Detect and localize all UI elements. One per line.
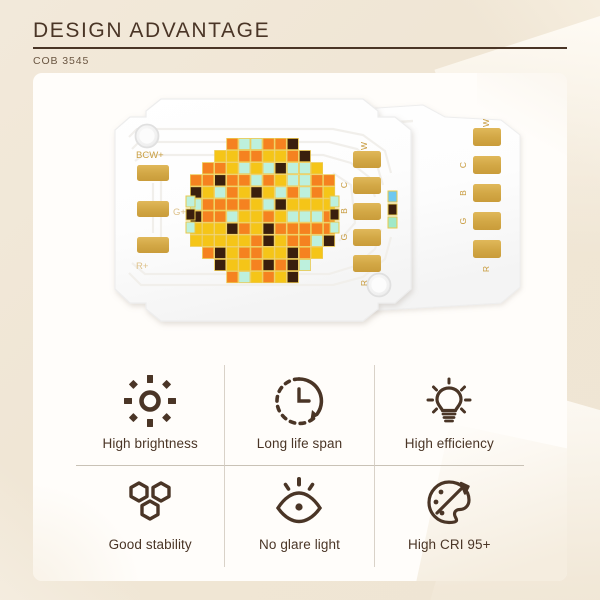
led-emitter — [275, 163, 286, 174]
led-emitter — [263, 247, 274, 258]
led-emitter — [299, 211, 310, 222]
feature-long-life-span[interactable]: Long life span — [225, 365, 374, 466]
led-emitter — [203, 235, 214, 246]
led-emitter — [311, 187, 322, 198]
led-emitter — [239, 163, 250, 174]
led-emitter — [251, 199, 262, 210]
led-emitter — [287, 187, 298, 198]
led-emitter — [311, 223, 322, 234]
feature-no-glare-light[interactable]: No glare light — [225, 466, 374, 567]
led-emitter — [203, 187, 214, 198]
led-emitter — [203, 163, 214, 174]
led-emitter — [287, 151, 298, 162]
led-emitter — [263, 223, 274, 234]
led-emitter — [227, 151, 238, 162]
led-emitter — [299, 247, 310, 258]
led-emitter — [287, 247, 298, 258]
led-emitter — [203, 175, 214, 186]
led-emitter — [215, 247, 226, 258]
pad-r-plus — [137, 237, 169, 253]
led-emitter — [287, 223, 298, 234]
led-emitter — [263, 199, 274, 210]
feature-label: High brightness — [103, 436, 198, 451]
feature-label: No glare light — [259, 537, 340, 552]
led-emitter — [287, 138, 298, 149]
secondary-pad-label-B: B — [458, 190, 468, 196]
led-emitter — [227, 138, 238, 149]
led-emitter — [324, 235, 335, 246]
led-emitter — [251, 259, 262, 270]
led-emitter — [275, 211, 286, 222]
led-emitter — [263, 138, 274, 149]
honeycomb-icon — [123, 474, 177, 530]
led-emitter — [190, 235, 201, 246]
feature-grid: High brightness Long life span — [76, 365, 524, 567]
led-emitter — [251, 138, 262, 149]
led-emitter — [263, 235, 274, 246]
led-emitter — [299, 163, 310, 174]
led-emitter — [275, 247, 286, 258]
led-emitter — [311, 235, 322, 246]
led-emitter — [227, 272, 238, 283]
led-emitter — [263, 151, 274, 162]
led-emitter — [299, 187, 310, 198]
led-emitter — [275, 235, 286, 246]
led-emitter — [227, 163, 238, 174]
led-emitter — [275, 151, 286, 162]
led-emitter — [239, 223, 250, 234]
led-emitter — [311, 163, 322, 174]
led-emitter — [299, 199, 310, 210]
led-emitter — [215, 211, 226, 222]
feature-good-stability[interactable]: Good stability — [76, 466, 225, 567]
led-emitter — [287, 259, 298, 270]
led-emitter — [215, 235, 226, 246]
led-emitter — [239, 151, 250, 162]
led-emitter — [251, 235, 262, 246]
led-emitter — [227, 259, 238, 270]
secondary-pad-label-C: C — [458, 162, 468, 168]
led-emitter — [299, 151, 310, 162]
brightness-sun-icon — [123, 373, 177, 429]
led-emitter — [299, 175, 310, 186]
secondary-pad-label-R: R — [481, 266, 491, 272]
page-header: DESIGN ADVANTAGE COB 3545 — [33, 18, 567, 67]
led-emitter — [251, 272, 262, 283]
led-emitter — [287, 211, 298, 222]
led-emitter — [251, 187, 262, 198]
pad-label-R: R — [359, 280, 369, 286]
page-root: DESIGN ADVANTAGE COB 3545 — [0, 0, 600, 600]
pad-label-W: W — [359, 142, 369, 150]
led-emitter — [227, 223, 238, 234]
led-emitter — [239, 247, 250, 258]
clock-icon — [272, 373, 326, 429]
led-emitter — [299, 223, 310, 234]
led-emitter — [239, 211, 250, 222]
led-emitter — [263, 187, 274, 198]
led-emitter — [263, 211, 274, 222]
led-emitter — [203, 247, 214, 258]
led-emitter — [215, 175, 226, 186]
lightbulb-icon — [422, 373, 476, 429]
led-emitter — [251, 151, 262, 162]
feature-label: Good stability — [109, 537, 192, 552]
led-emitter — [215, 163, 226, 174]
feature-high-brightness[interactable]: High brightness — [76, 365, 225, 466]
led-emitter — [263, 272, 274, 283]
led-emitter — [311, 175, 322, 186]
pad-label-C: C — [339, 182, 349, 188]
page-subtitle: COB 3545 — [33, 55, 567, 67]
eye-icon — [272, 474, 326, 530]
led-emitter — [251, 223, 262, 234]
led-emitter — [239, 235, 250, 246]
led-emitter — [287, 272, 298, 283]
led-emitter — [251, 163, 262, 174]
led-emitter — [239, 138, 250, 149]
led-emitter — [324, 175, 335, 186]
feature-high-cri[interactable]: High CRI 95+ — [375, 466, 524, 567]
pad-bcw-plus — [137, 165, 169, 181]
led-emitter — [190, 175, 201, 186]
pad-label-B: B — [339, 208, 349, 214]
led-emitter — [203, 199, 214, 210]
feature-label: High efficiency — [405, 436, 494, 451]
header-divider — [33, 47, 567, 49]
led-emitter — [251, 211, 262, 222]
pad-label-bcw-plus: BCW+ — [136, 150, 164, 161]
led-emitter — [203, 211, 214, 222]
led-emitter — [287, 235, 298, 246]
led-emitter — [215, 187, 226, 198]
pad-label-g-plus: G+ — [173, 207, 186, 218]
secondary-pad-label-G: G — [458, 218, 468, 225]
pad-g-plus — [137, 201, 169, 217]
led-emitter — [227, 235, 238, 246]
side-led-group-far-right — [388, 191, 397, 228]
led-emitter — [227, 199, 238, 210]
led-emitter — [275, 199, 286, 210]
led-emitter — [263, 163, 274, 174]
feature-label: Long life span — [257, 436, 342, 451]
pad-label-G: G — [339, 234, 349, 241]
led-emitter — [287, 163, 298, 174]
led-emitter — [275, 272, 286, 283]
content-card: W C B G R — [33, 73, 567, 581]
led-emitter — [251, 247, 262, 258]
led-emitter — [239, 259, 250, 270]
led-emitter — [227, 187, 238, 198]
page-title: DESIGN ADVANTAGE — [33, 18, 567, 44]
led-emitter — [239, 175, 250, 186]
led-emitter — [311, 247, 322, 258]
led-emitter — [215, 199, 226, 210]
led-emitter — [263, 175, 274, 186]
led-emitter — [275, 223, 286, 234]
feature-high-efficiency[interactable]: High efficiency — [375, 365, 524, 466]
led-emitter — [299, 259, 310, 270]
led-emitter — [311, 199, 322, 210]
led-emitter — [239, 187, 250, 198]
led-emitter — [227, 247, 238, 258]
led-emitter — [203, 223, 214, 234]
led-emitter — [251, 175, 262, 186]
led-emitter — [239, 272, 250, 283]
led-emitter — [215, 223, 226, 234]
led-emitter — [275, 175, 286, 186]
side-led-group-left — [186, 196, 195, 233]
side-led-group-right — [330, 196, 339, 233]
product-illustration: W C B G R — [33, 73, 567, 358]
led-emitter — [215, 151, 226, 162]
led-emitter — [227, 211, 238, 222]
led-emitter — [275, 259, 286, 270]
led-emitter — [287, 199, 298, 210]
led-emitter — [287, 175, 298, 186]
secondary-pad-label-W: W — [481, 119, 491, 127]
led-emitter — [227, 175, 238, 186]
pad-label-r-plus: R+ — [136, 261, 149, 272]
led-emitter — [263, 259, 274, 270]
led-emitter — [239, 199, 250, 210]
led-emitter — [215, 259, 226, 270]
feature-label: High CRI 95+ — [408, 537, 491, 552]
led-emitter — [275, 187, 286, 198]
palette-icon — [422, 474, 476, 530]
led-emitter — [311, 211, 322, 222]
led-emitter — [299, 235, 310, 246]
led-emitter — [275, 138, 286, 149]
